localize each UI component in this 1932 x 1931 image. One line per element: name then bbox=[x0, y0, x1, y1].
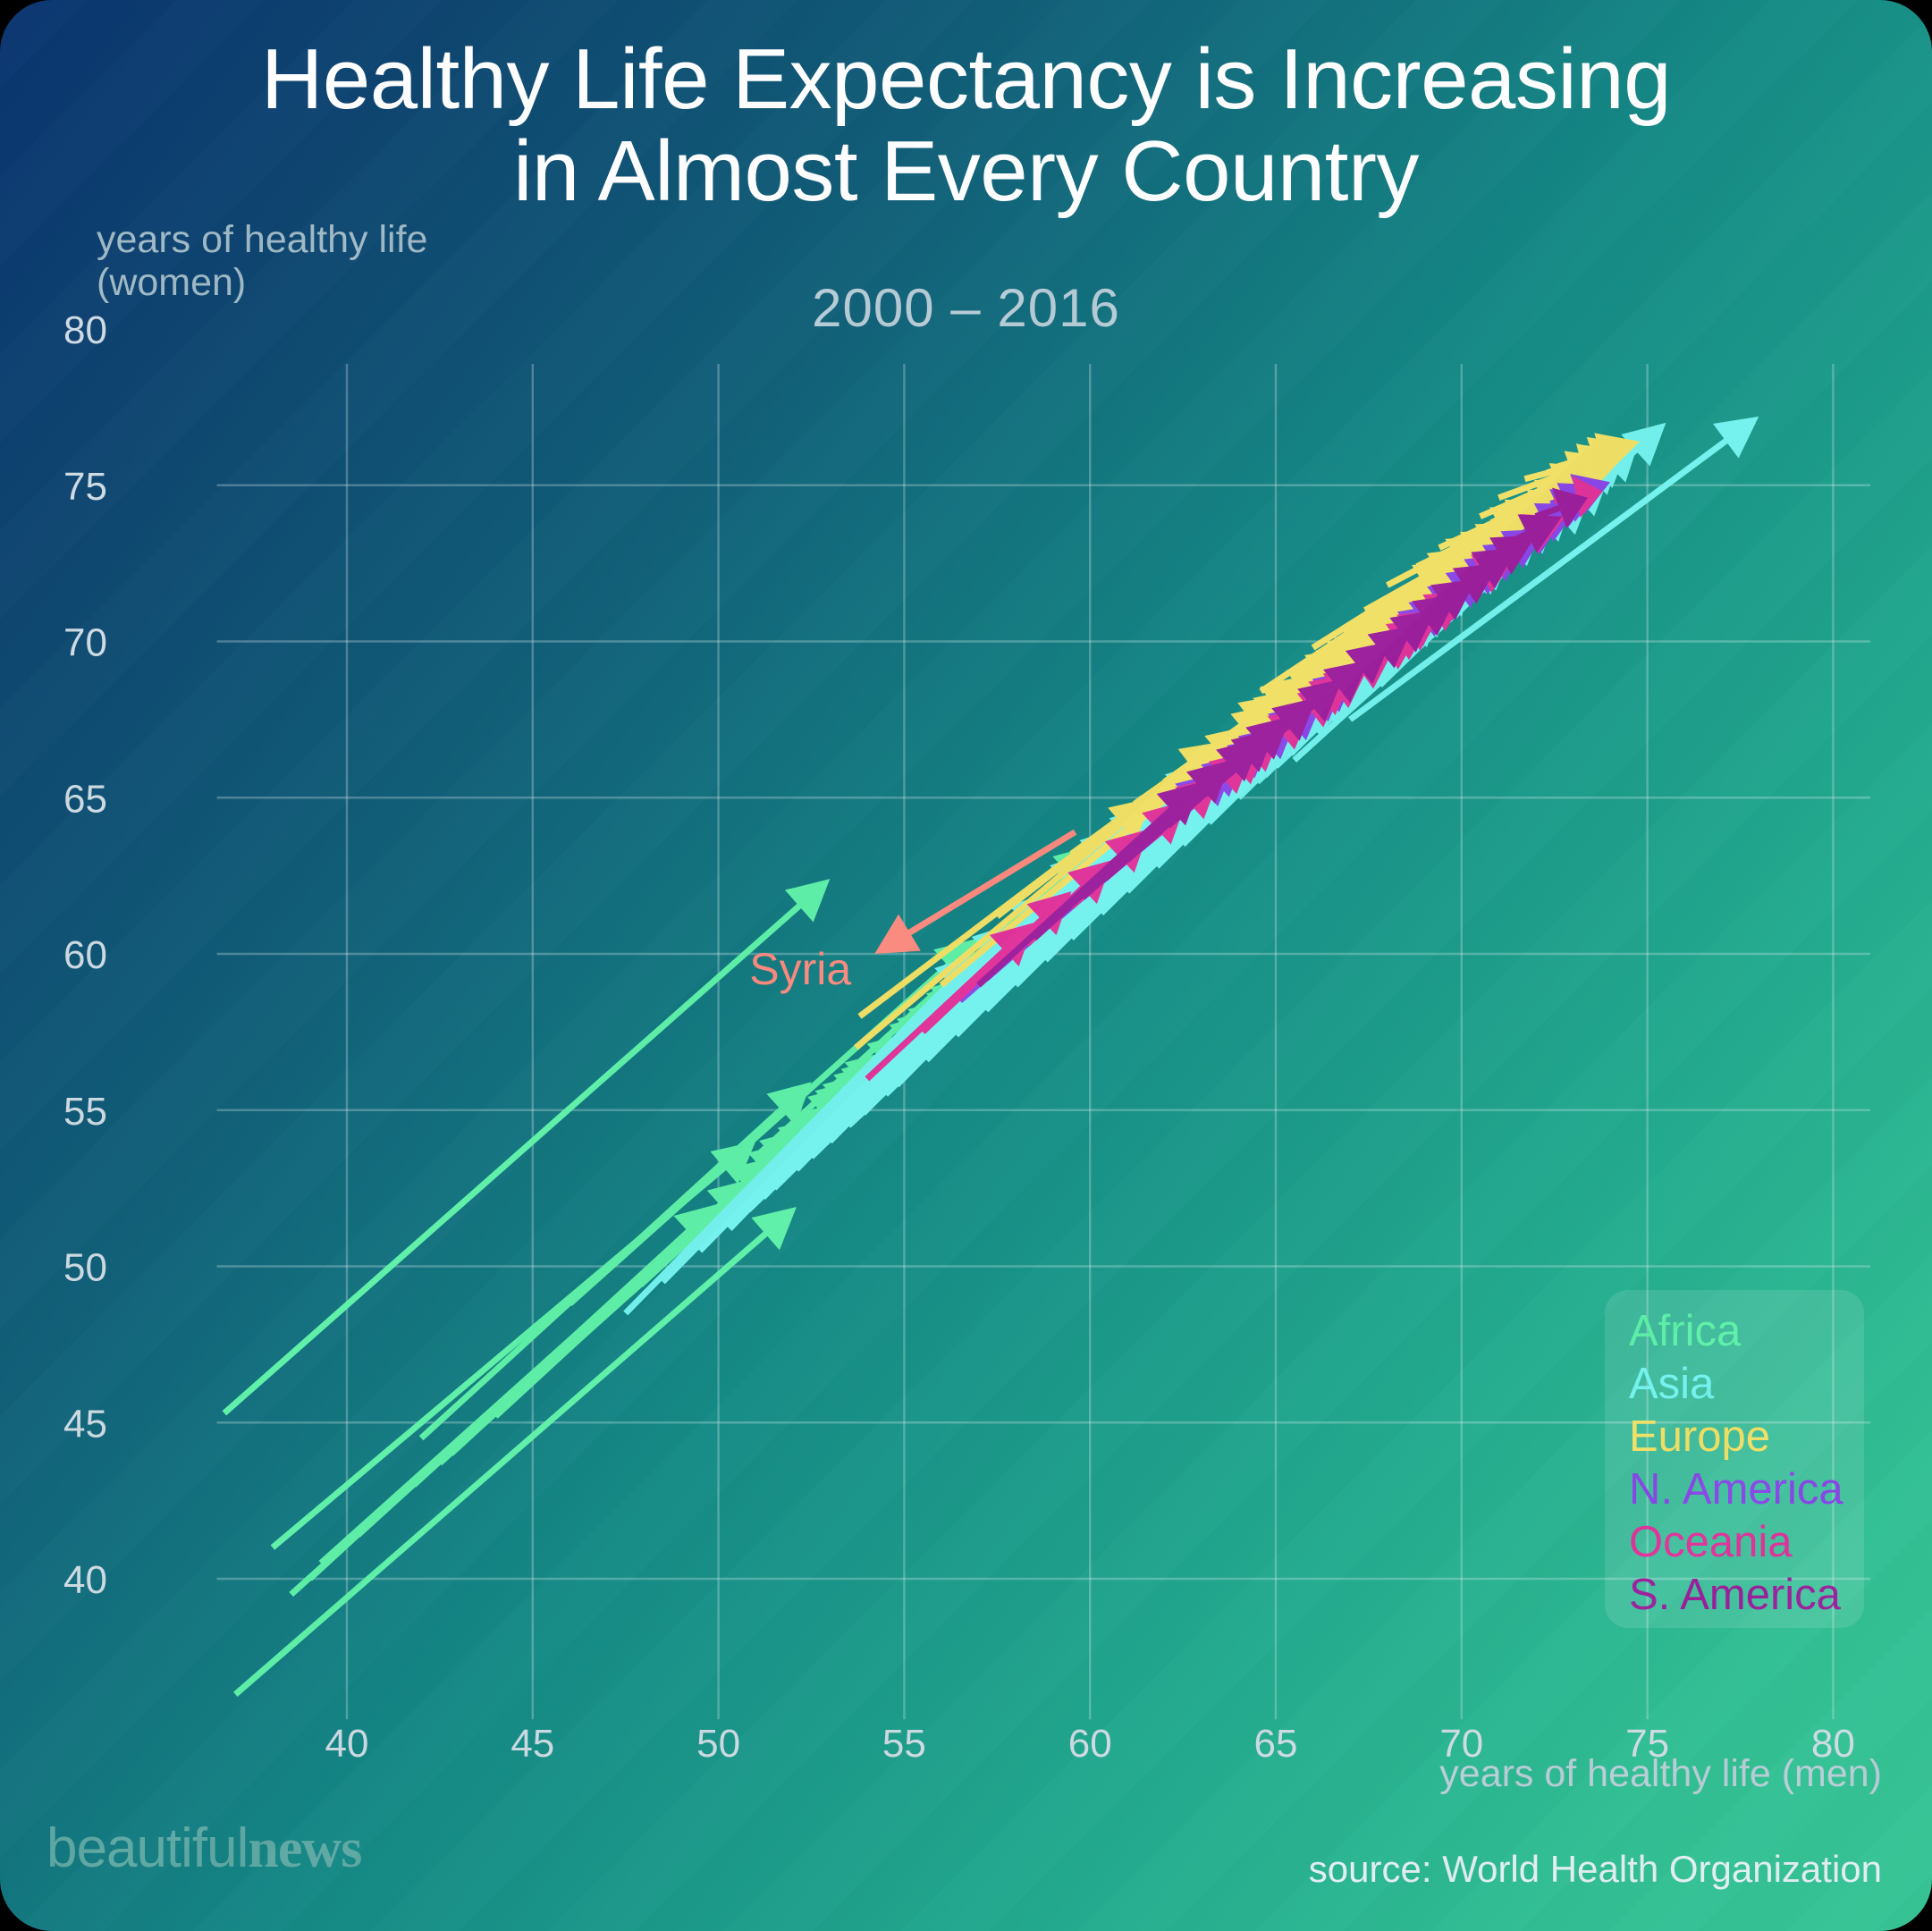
y-axis-tick: 55 bbox=[63, 1090, 107, 1134]
country-arrow bbox=[623, 954, 978, 1315]
annotation-label-syria: Syria bbox=[749, 944, 851, 994]
x-axis-tick: 65 bbox=[1254, 1722, 1298, 1766]
legend[interactable]: AfricaAsiaEuropeN. AmericaOceaniaS. Amer… bbox=[1605, 1290, 1864, 1628]
chart-card: Healthy Life Expectancy is Increasing in… bbox=[0, 0, 1932, 1931]
y-axis-tick: 50 bbox=[63, 1246, 107, 1290]
logo-light-text: beautiful bbox=[46, 1817, 248, 1879]
legend-item-oceania[interactable]: Oceania bbox=[1629, 1518, 1793, 1566]
x-axis-tick: 45 bbox=[510, 1722, 554, 1766]
legend-item-asia[interactable]: Asia bbox=[1629, 1360, 1715, 1408]
y-axis-tick: 70 bbox=[63, 621, 107, 665]
x-axis-tick: 40 bbox=[325, 1722, 369, 1766]
x-axis-tick: 50 bbox=[696, 1722, 740, 1766]
legend-item-africa[interactable]: Africa bbox=[1629, 1307, 1742, 1355]
logo-bold-text: news bbox=[248, 1818, 361, 1879]
scatter-arrow-plot: Syria 4045505560657075804045505560657075… bbox=[0, 0, 1932, 1931]
y-axis-tick: 40 bbox=[63, 1558, 107, 1602]
series-asia bbox=[623, 417, 1759, 1316]
country-arrow bbox=[1348, 417, 1759, 722]
legend-item-n-america[interactable]: N. America bbox=[1629, 1465, 1843, 1514]
axis-tick-layer: 404550556065707580404550556065707580 bbox=[63, 308, 1855, 1766]
x-axis-tick: 60 bbox=[1068, 1722, 1112, 1766]
legend-item-europe[interactable]: Europe bbox=[1629, 1412, 1770, 1461]
x-axis-tick: 55 bbox=[882, 1722, 926, 1766]
country-arrow bbox=[233, 1207, 797, 1697]
y-axis-label-line2: (women) bbox=[97, 261, 246, 304]
x-axis-label: years of healthy life (men) bbox=[1439, 1752, 1882, 1795]
legend-item-s-america[interactable]: S. America bbox=[1629, 1571, 1842, 1619]
y-axis-tick: 80 bbox=[63, 308, 107, 352]
y-axis-label-line1: years of healthy life bbox=[97, 218, 427, 261]
y-axis-tick: 60 bbox=[63, 933, 107, 977]
y-axis-tick: 75 bbox=[63, 465, 107, 509]
brand-logo: beautifulnews bbox=[46, 1817, 361, 1881]
y-axis-tick: 65 bbox=[63, 777, 107, 821]
arrow-series-layer bbox=[223, 417, 1759, 1697]
source-label: source: World Health Organization bbox=[1309, 1848, 1882, 1890]
y-axis-tick: 45 bbox=[63, 1402, 107, 1446]
